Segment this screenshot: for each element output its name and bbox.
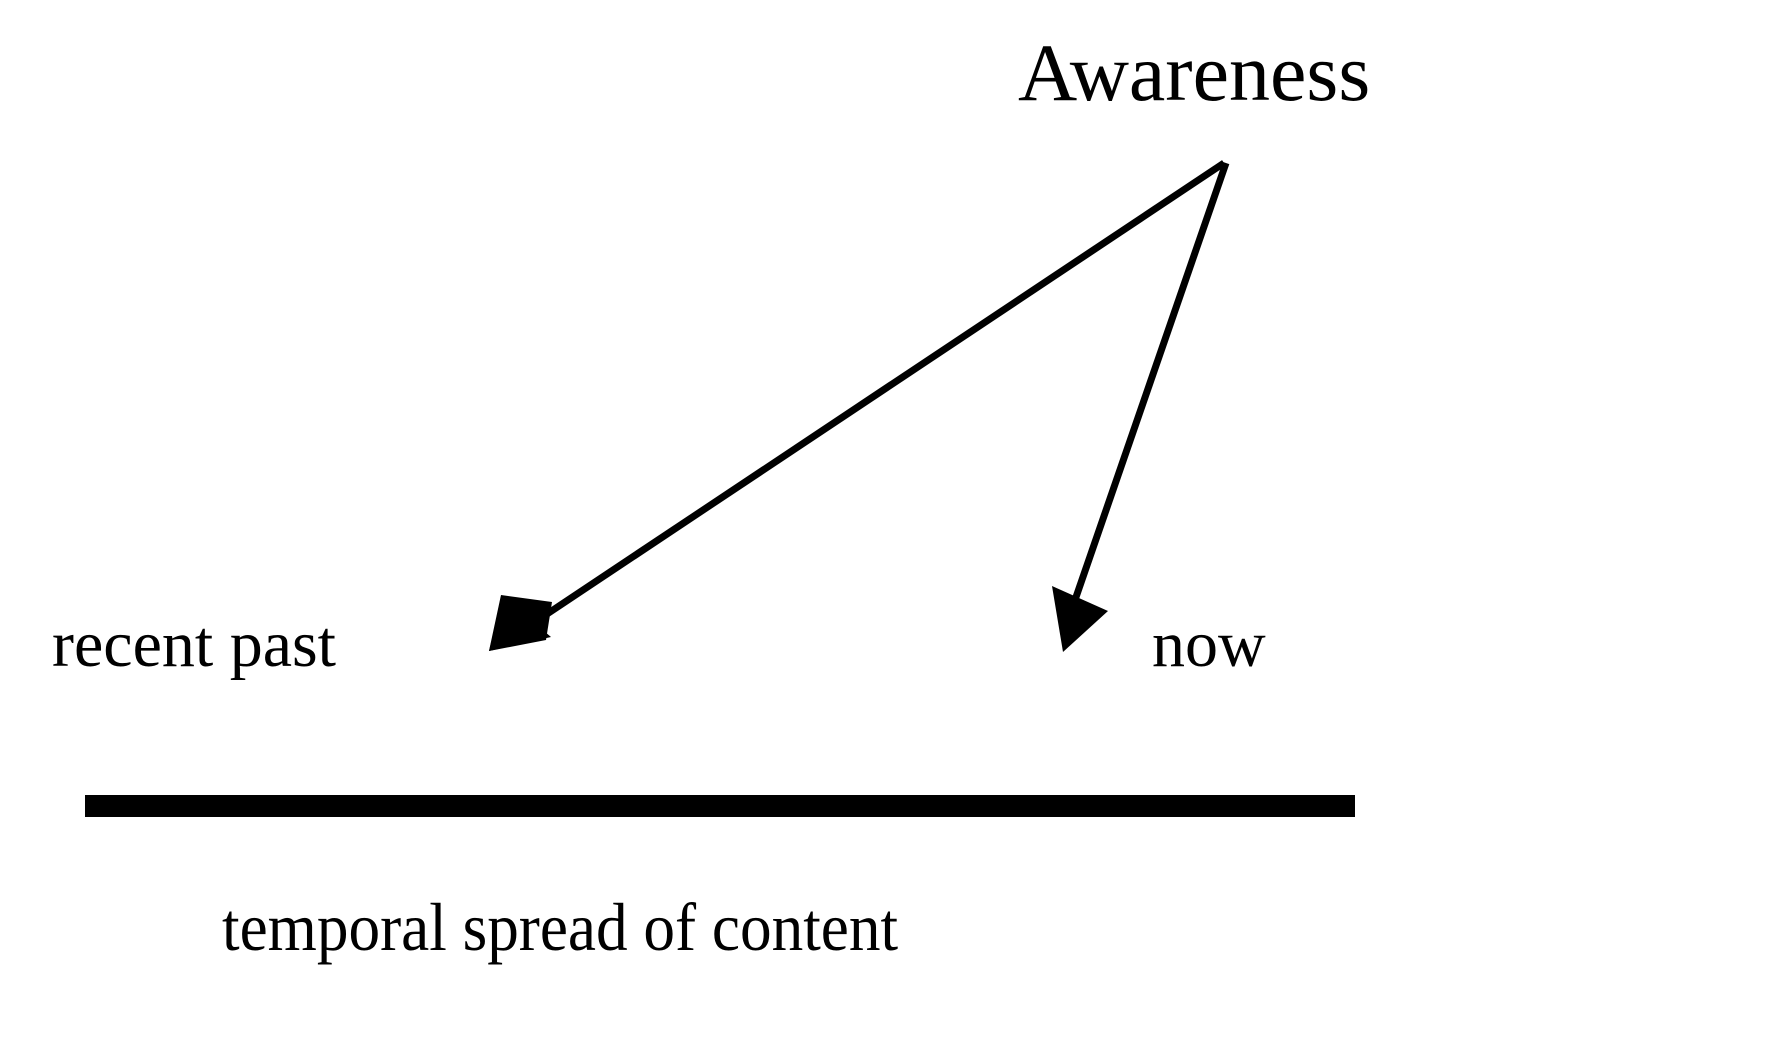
label-awareness: Awareness xyxy=(1018,32,1370,114)
label-recent-past: recent past xyxy=(52,612,336,678)
arrow-to-now xyxy=(1052,163,1226,652)
arrow-to-now-shaft xyxy=(1075,163,1226,600)
arrow-to-recent-past-shaft xyxy=(520,163,1224,632)
label-temporal-spread-caption: temporal spread of content xyxy=(222,893,898,961)
timeline-bar xyxy=(85,795,1355,817)
arrow-to-recent-past xyxy=(489,163,1224,651)
diagram-canvas: Awareness recent past now temporal sprea… xyxy=(0,0,1775,1058)
label-now: now xyxy=(1152,612,1266,678)
